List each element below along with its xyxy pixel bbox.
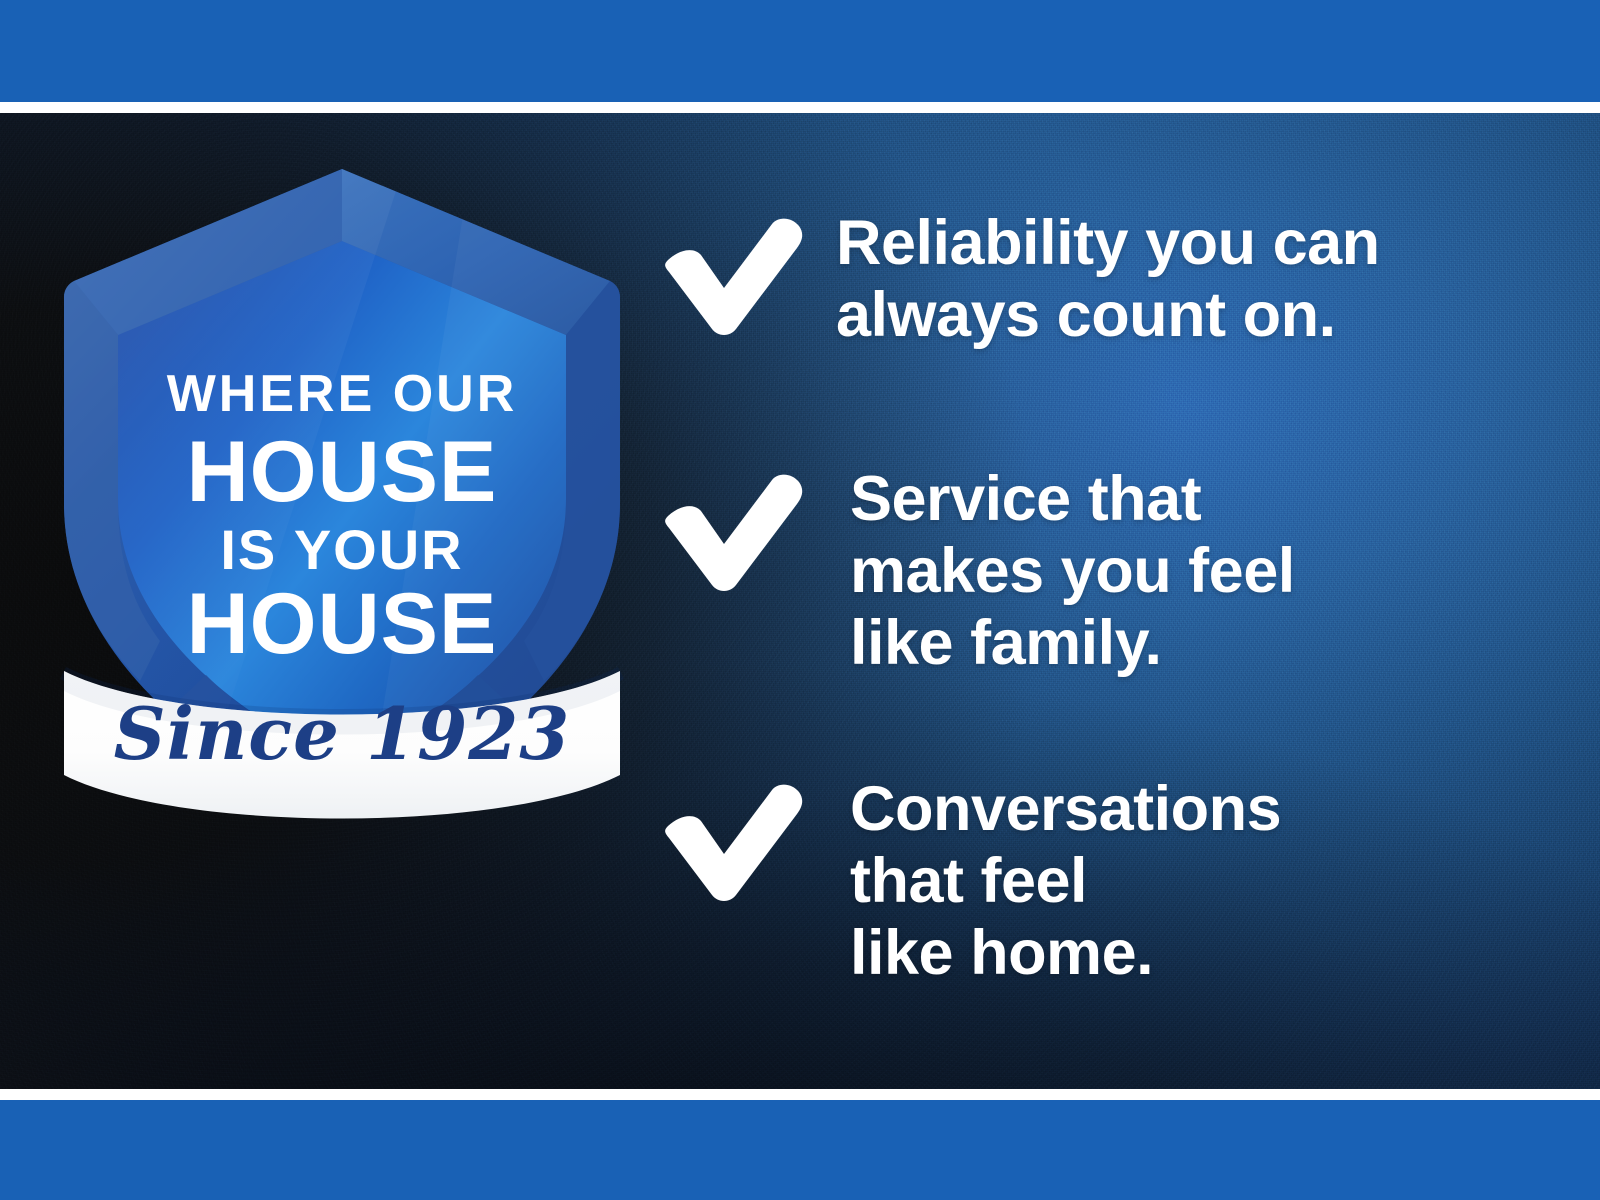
shield-line-4: HOUSE	[187, 576, 498, 672]
benefit-text-reliability: Reliability you can always count on.	[836, 208, 1380, 352]
benefit-text-conversations: Conversations that feel like home.	[850, 774, 1281, 989]
bottom-white-divider	[0, 1089, 1600, 1100]
shield-emblem: WHERE OUR HOUSE IS YOUR HOUSE Since 1923	[58, 163, 626, 823]
check-icon	[660, 216, 810, 336]
benefit-item-conversations: Conversations that feel like home.	[660, 774, 1281, 989]
shield-line-1: WHERE OUR	[167, 365, 518, 423]
since-banner-text: Since 1923	[114, 691, 571, 776]
top-brand-bar	[0, 0, 1600, 102]
shield-line-2: HOUSE	[187, 424, 498, 520]
benefit-item-service: Service that makes you feel like family.	[660, 464, 1295, 679]
check-icon	[660, 782, 810, 902]
promo-graphic: WHERE OUR HOUSE IS YOUR HOUSE Since 1923	[0, 0, 1600, 1200]
check-icon	[660, 472, 810, 592]
top-white-divider	[0, 102, 1600, 113]
bottom-brand-bar	[0, 1100, 1600, 1200]
shield-text: WHERE OUR HOUSE IS YOUR HOUSE	[167, 365, 518, 672]
benefit-item-reliability: Reliability you can always count on.	[660, 208, 1380, 352]
benefit-list: Reliability you can always count on. Ser…	[660, 180, 1520, 1040]
benefit-text-service: Service that makes you feel like family.	[850, 464, 1295, 679]
shield-line-3: IS YOUR	[220, 518, 463, 581]
